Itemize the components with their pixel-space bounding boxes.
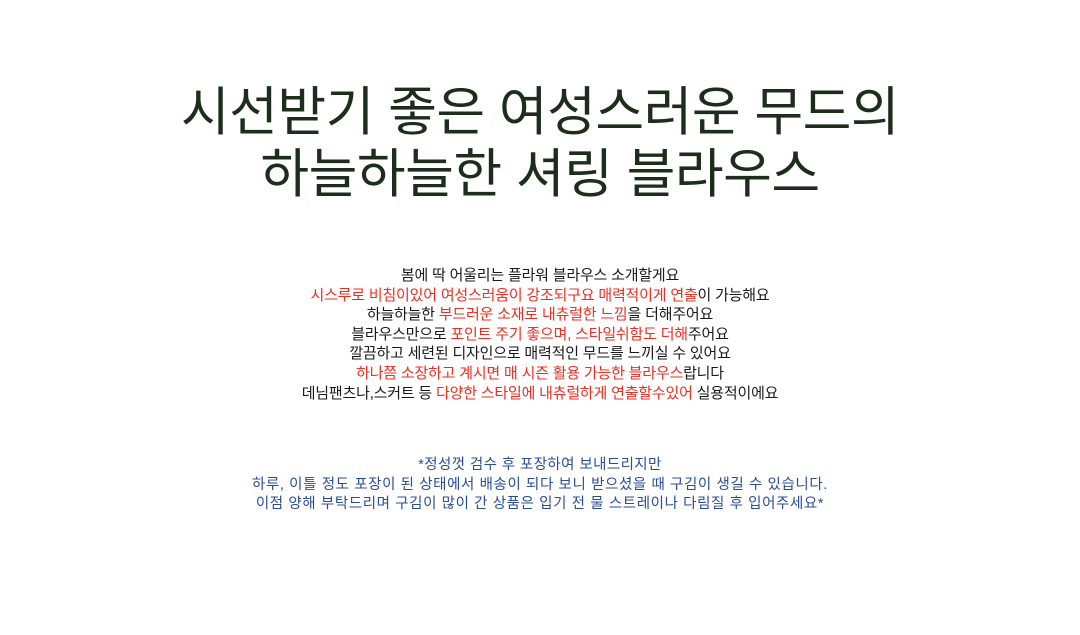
description-line-3-segment-2: 부드러운 소재로 내츄럴한 느낌: [439, 306, 628, 323]
description-line-1: 봄에 딱 어울리는 플라워 블라우스 소개할게요: [0, 266, 1080, 286]
description-block: 봄에 딱 어울리는 플라워 블라우스 소개할게요 시스루로 비침이있어 여성스러…: [0, 266, 1080, 403]
description-line-7: 데님팬츠나,스커트 등 다양한 스타일에 내츄럴하게 연출할수있어 실용적이에요: [0, 384, 1080, 404]
page-title: 시선받기 좋은 여성스러운 무드의 하늘하늘한 셔링 블라우스: [0, 82, 1080, 206]
description-line-6-segment-1: 하나쯤 소장하고 계시면 매 시즌 활용 가능한 블라우스: [356, 365, 683, 382]
description-line-1-segment-1: 봄에 딱 어울리는 플라워 블라우스 소개할게요: [401, 267, 679, 284]
description-line-3-segment-3: 을 더해주어요: [628, 306, 714, 323]
description-line-6-segment-2: 랍니다: [683, 365, 724, 382]
description-line-2-segment-2: 이 가능해요: [698, 287, 770, 304]
description-line-3: 하늘하늘한 부드러운 소재로 내츄럴한 느낌을 더해주어요: [0, 305, 1080, 325]
description-line-3-segment-1: 하늘하늘한: [367, 306, 439, 323]
notice-line-1: *정성껏 검수 후 포장하여 보내드리지만: [0, 456, 1080, 476]
title-line-2: 하늘하늘한 셔링 블라우스: [0, 144, 1080, 206]
notice-line-2: 하루, 이틀 정도 포장이 된 상태에서 배송이 되다 보니 받으셨을 때 구김…: [0, 476, 1080, 496]
description-line-4-segment-3: 주어요: [688, 326, 729, 343]
description-line-7-segment-1: 데님팬츠나,스커트 등: [302, 385, 436, 402]
title-line-1: 시선받기 좋은 여성스러운 무드의: [0, 82, 1080, 144]
description-line-6: 하나쯤 소장하고 계시면 매 시즌 활용 가능한 블라우스랍니다: [0, 364, 1080, 384]
description-line-4-segment-2: 포인트 주기 좋으며, 스타일쉬함도 더해: [450, 326, 687, 343]
shipping-notice-block: *정성껏 검수 후 포장하여 보내드리지만 하루, 이틀 정도 포장이 된 상태…: [0, 456, 1080, 515]
description-line-7-segment-2: 다양한 스타일에 내츄럴하게 연출할수있어: [436, 385, 693, 402]
description-line-2: 시스루로 비침이있어 여성스러움이 강조되구요 매력적이게 연출이 가능해요: [0, 286, 1080, 306]
description-line-7-segment-3: 실용적이에요: [693, 385, 779, 402]
product-description-page: 시선받기 좋은 여성스러운 무드의 하늘하늘한 셔링 블라우스 봄에 딱 어울리…: [0, 0, 1080, 635]
description-line-5: 깔끔하고 세련된 디자인으로 매력적인 무드를 느끼실 수 있어요: [0, 344, 1080, 364]
notice-line-3: 이점 양해 부탁드리며 구김이 많이 간 상품은 입기 전 물 스트레이나 다림…: [0, 495, 1080, 515]
description-line-4: 블라우스만으로 포인트 주기 좋으며, 스타일쉬함도 더해주어요: [0, 325, 1080, 345]
description-line-4-segment-1: 블라우스만으로: [351, 326, 450, 343]
description-line-2-segment-1: 시스루로 비침이있어 여성스러움이 강조되구요 매력적이게 연출: [310, 287, 697, 304]
description-line-5-segment-1: 깔끔하고 세련된 디자인으로 매력적인 무드를 느끼실 수 있어요: [349, 345, 730, 362]
